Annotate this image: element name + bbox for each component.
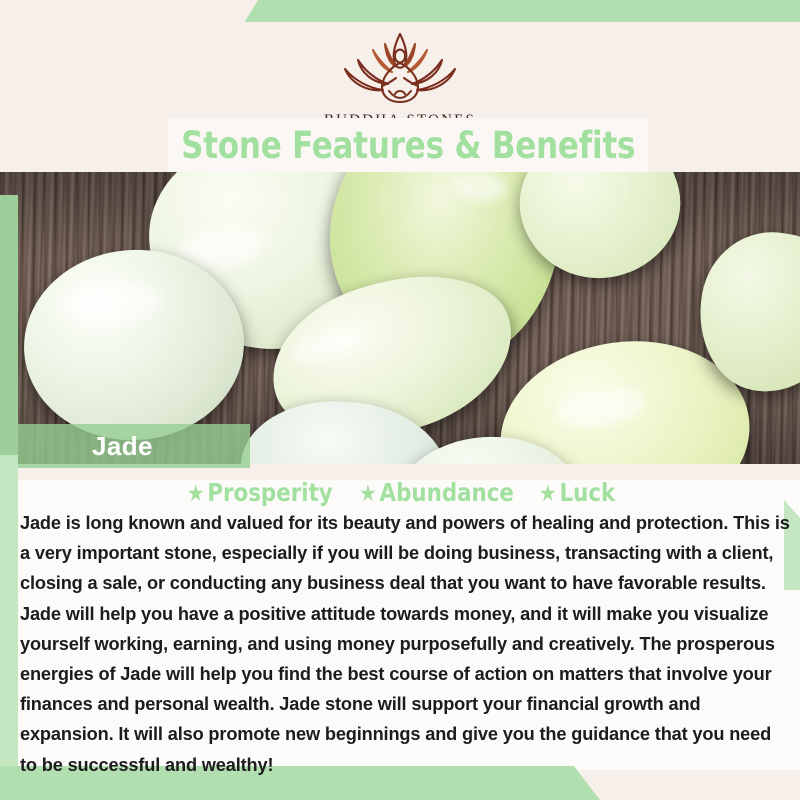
star-icon: ★: [359, 481, 377, 507]
benefit-label: Abundance: [380, 478, 514, 507]
benefits-row: ★Prosperity ★Abundance ★Luck: [0, 478, 800, 507]
brand-logo: BUDDHA STONES: [0, 28, 800, 129]
stone-name-banner: Jade: [18, 424, 250, 468]
stone-photo: [0, 172, 800, 464]
title-plate: Stone Features & Benefits: [168, 118, 648, 172]
stone-name-label: Jade: [92, 431, 153, 462]
star-icon: ★: [539, 481, 557, 507]
lotus-meditation-icon: [325, 28, 475, 110]
page-title: Stone Features & Benefits: [181, 124, 635, 167]
benefit-item: ★Luck: [539, 478, 615, 507]
stone-benefits-poster: BUDDHA STONES Stone Features & Benefits: [0, 0, 800, 800]
benefit-item: ★Abundance: [359, 478, 514, 507]
decorative-left-green-strip-dark: [0, 195, 18, 455]
stone-description: Jade is long known and valued for its be…: [20, 508, 792, 780]
benefit-label: Prosperity: [207, 478, 332, 507]
star-icon: ★: [187, 481, 205, 507]
benefit-item: ★Prosperity: [187, 478, 333, 507]
benefit-label: Luck: [559, 478, 615, 507]
